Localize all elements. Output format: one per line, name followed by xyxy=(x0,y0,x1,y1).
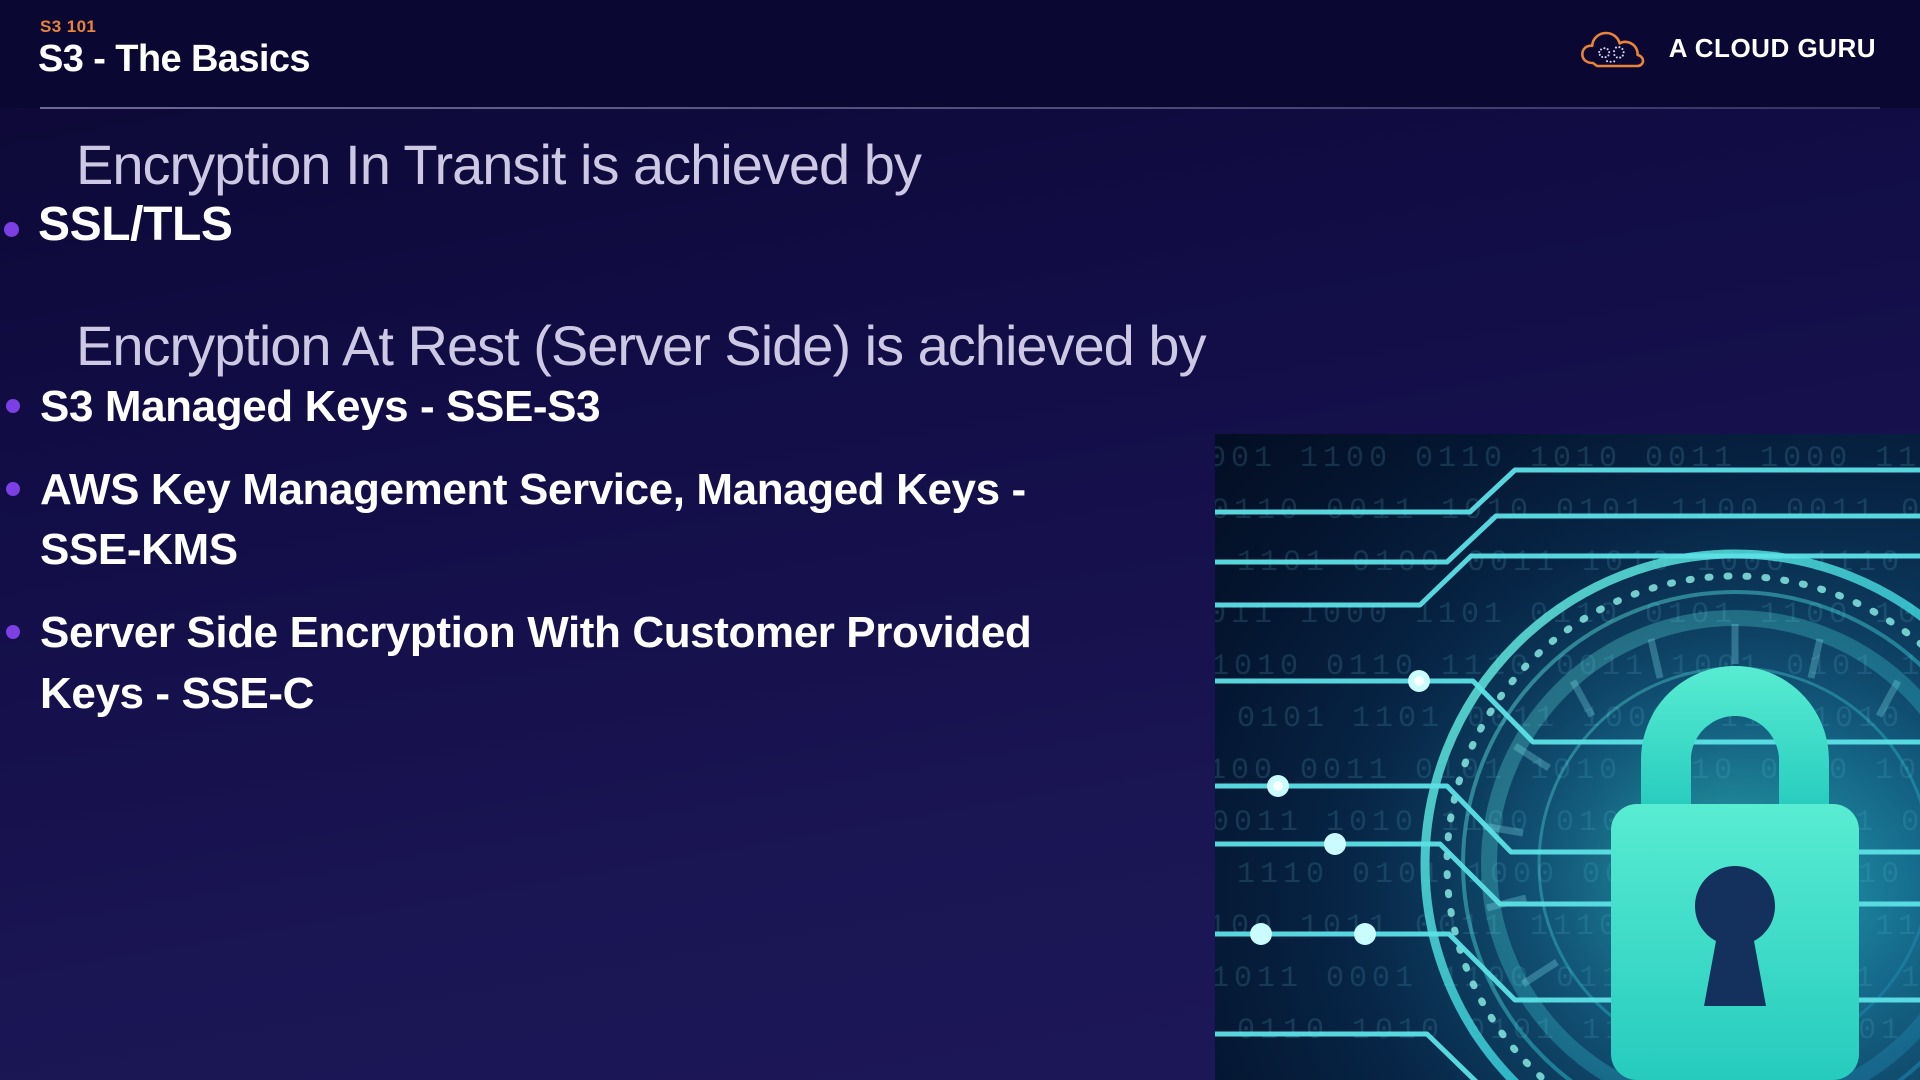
bullet-list-at-rest: S3 Managed Keys - SSE-S3 AWS Key Managem… xyxy=(0,377,1215,725)
bullet-list-transit: SSL/TLS xyxy=(0,196,1215,254)
list-item: AWS Key Management Service, Managed Keys… xyxy=(0,460,1080,581)
bullet-dot-icon xyxy=(6,399,20,413)
lead-line-at-rest: Encryption At Rest (Server Side) is achi… xyxy=(76,315,1215,377)
circuit-and-lock-graphic xyxy=(1215,434,1920,1080)
bullet-dot-icon xyxy=(4,222,19,237)
brand-name: A CLOUD GURU xyxy=(1669,33,1876,64)
list-item: Server Side Encryption With Customer Pro… xyxy=(0,603,1080,724)
bullet-dot-icon xyxy=(6,482,20,496)
list-item: SSL/TLS xyxy=(0,196,1215,254)
list-item-label: Server Side Encryption With Customer Pro… xyxy=(40,608,1031,718)
slide-header: S3 101 S3 - The Basics xyxy=(0,0,1920,108)
list-item-label: SSL/TLS xyxy=(38,198,233,251)
brand-lockup: A CLOUD GURU xyxy=(1579,26,1876,70)
bullet-dot-icon xyxy=(6,625,20,639)
list-item: S3 Managed Keys - SSE-S3 xyxy=(0,377,1080,438)
padlock-circuit-security-image: 1001 1100 0110 1010 0011 1000 11010110 0… xyxy=(1215,434,1920,1080)
course-eyebrow: S3 101 xyxy=(40,17,96,37)
slide: S3 101 S3 - The Basics xyxy=(0,0,1920,1080)
page-title: S3 - The Basics xyxy=(38,38,310,81)
cloud-guru-logo-icon xyxy=(1579,26,1653,70)
lead-line-transit: Encryption In Transit is achieved by xyxy=(76,134,1215,196)
slide-content: Encryption In Transit is achieved by SSL… xyxy=(0,108,1215,746)
list-item-label: AWS Key Management Service, Managed Keys… xyxy=(40,465,1026,575)
list-item-label: S3 Managed Keys - SSE-S3 xyxy=(40,382,600,431)
